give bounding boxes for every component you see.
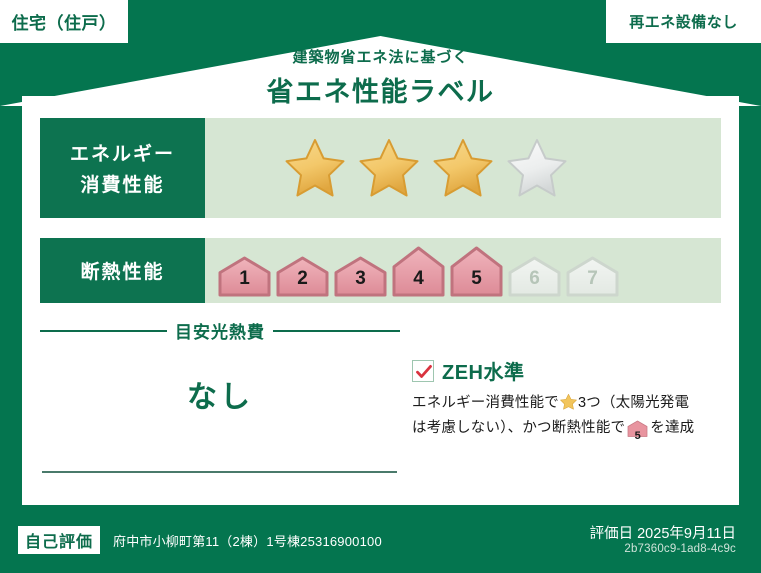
insulation-level-number: 6 xyxy=(507,268,562,290)
footer-uuid: 2b7360c9-1ad8-4c9c xyxy=(624,543,736,555)
footer-eval-date: 評価日 2025年9月11日 xyxy=(590,522,736,543)
badge-building-type-text: 住宅（住戸） xyxy=(12,9,117,34)
row-energy-label: エネルギー 消費性能 xyxy=(40,118,205,218)
insulation-level-number: 1 xyxy=(217,268,272,290)
star-filled-icon xyxy=(281,135,349,201)
insulation-level-scale: 1234567 xyxy=(217,245,620,297)
insulation-level-number: 4 xyxy=(391,268,446,290)
footer-address: 府中市小柳町第11（2棟）1号棟25316900100 xyxy=(113,531,382,550)
zeh-title: ZEH水準 xyxy=(442,356,525,385)
row-insulation-performance: 断熱性能 1234567 xyxy=(40,238,721,303)
heading-rule-left xyxy=(40,330,167,332)
checkbox-checked-icon xyxy=(412,360,434,382)
insulation-level-3: 3 xyxy=(333,255,388,297)
badge-renewable-energy-text: 再エネ設備なし xyxy=(629,11,738,32)
star-empty-icon xyxy=(503,135,571,201)
badge-building-type: 住宅（住戸） xyxy=(0,0,128,43)
row-energy-performance: エネルギー 消費性能 xyxy=(40,118,721,218)
insulation-level-number: 7 xyxy=(565,268,620,290)
utility-cost-heading: 目安光熱費 xyxy=(40,318,400,343)
zeh-heading: ZEH水準 xyxy=(412,356,722,385)
zeh-desc-part3: は考慮しない）、かつ断熱性能で xyxy=(412,420,625,436)
zeh-desc-part1: エネルギー消費性能で xyxy=(412,395,559,411)
row-insulation-label-text: 断熱性能 xyxy=(80,257,164,284)
insulation-level-2: 2 xyxy=(275,255,330,297)
header-subtitle: 建築物省エネ法に基づく xyxy=(0,46,761,67)
footer-eval-type-text: 自己評価 xyxy=(25,534,93,551)
page-title: 省エネ性能ラベル xyxy=(0,70,761,109)
star-filled-icon xyxy=(355,135,423,201)
utility-cost-bottom-rule xyxy=(42,471,397,473)
row-energy-label-line1: エネルギー xyxy=(70,139,175,166)
utility-cost-heading-text: 目安光熱費 xyxy=(175,318,265,343)
insulation-level-4: 4 xyxy=(391,245,446,297)
row-insulation-label: 断熱性能 xyxy=(40,238,205,303)
row-energy-label-line2: 消費性能 xyxy=(80,170,164,197)
zeh-desc-part2: 3つ（太陽光発電 xyxy=(578,395,689,411)
heading-rule-right xyxy=(273,330,400,332)
zeh-description: エネルギー消費性能で 3つ（太陽光発電 は考慮しない）、かつ断熱性能で 5を達成 xyxy=(412,392,722,445)
insulation-level-number: 5 xyxy=(449,268,504,290)
insulation-level-number: 3 xyxy=(333,268,388,290)
insulation-level-5: 5 xyxy=(449,245,504,297)
inline-house-number: 5 xyxy=(627,428,648,445)
star-rating xyxy=(281,135,571,201)
zeh-desc-part4: を達成 xyxy=(650,420,694,436)
inline-star-icon xyxy=(560,393,577,417)
zeh-section: ZEH水準 エネルギー消費性能で 3つ（太陽光発電 は考慮しない）、かつ断熱性能… xyxy=(412,356,722,445)
star-filled-icon xyxy=(429,135,497,201)
insulation-level-1: 1 xyxy=(217,255,272,297)
row-energy-content xyxy=(205,118,721,218)
row-insulation-content: 1234567 xyxy=(205,238,721,303)
insulation-level-number: 2 xyxy=(275,268,330,290)
footer: 自己評価 府中市小柳町第11（2棟）1号棟25316900100 評価日 202… xyxy=(0,505,761,573)
inline-house-badge: 5 xyxy=(627,420,648,444)
header: 建築物省エネ法に基づく 省エネ性能ラベル xyxy=(0,46,761,109)
insulation-level-6: 6 xyxy=(507,255,562,297)
footer-eval-type-badge: 自己評価 xyxy=(18,526,100,554)
badge-renewable-energy: 再エネ設備なし xyxy=(606,0,761,43)
insulation-level-7: 7 xyxy=(565,255,620,297)
energy-performance-label: 住宅（住戸） 再エネ設備なし 建築物省エネ法に基づく 省エネ性能ラベル エネルギ… xyxy=(0,0,761,573)
utility-cost-value: なし xyxy=(40,372,400,416)
